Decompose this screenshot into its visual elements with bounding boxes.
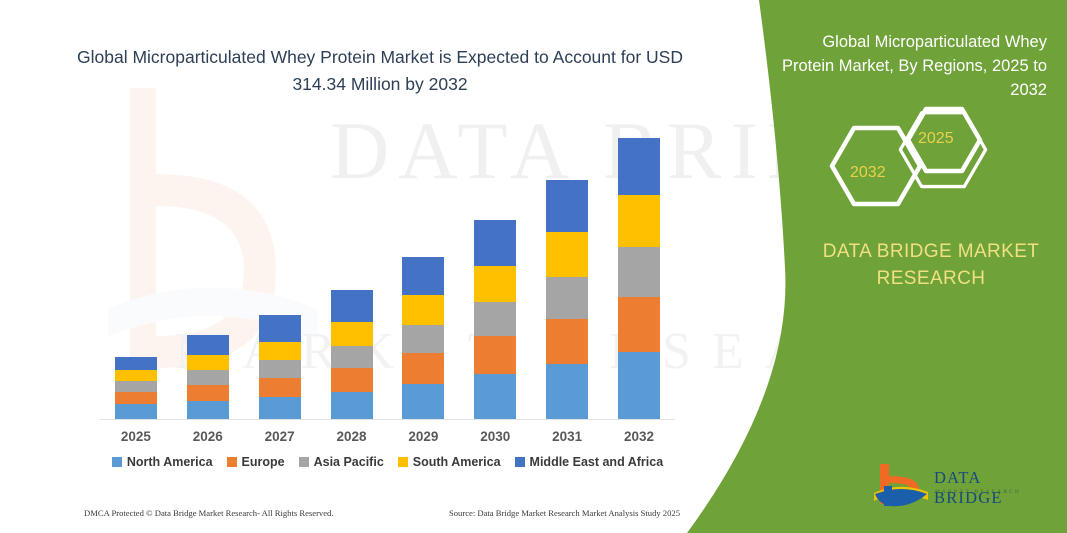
bar-column[interactable] <box>331 290 373 420</box>
bar-segment[interactable] <box>618 297 660 352</box>
bar-segment[interactable] <box>402 353 444 384</box>
hexagon-outlines-icon <box>812 104 992 214</box>
bar-segment[interactable] <box>187 385 229 401</box>
bar-segment[interactable] <box>187 355 229 370</box>
footer-copyright: DMCA Protected © Data Bridge Market Rese… <box>84 508 334 518</box>
legend-item[interactable]: South America <box>398 455 501 469</box>
stacked-bar-chart <box>100 118 675 420</box>
bar-column[interactable] <box>474 220 516 420</box>
bar-segment[interactable] <box>546 364 588 420</box>
x-axis-tick-label: 2027 <box>259 429 301 444</box>
bar-segment[interactable] <box>402 325 444 353</box>
bar-segment[interactable] <box>618 138 660 195</box>
bar-segment[interactable] <box>402 257 444 295</box>
x-axis-tick-label: 2032 <box>618 429 660 444</box>
x-axis-tick-label: 2028 <box>331 429 373 444</box>
x-axis-tick-label: 2029 <box>402 429 444 444</box>
bar-segment[interactable] <box>187 370 229 385</box>
bar-column[interactable] <box>546 180 588 420</box>
bar-column[interactable] <box>402 257 444 420</box>
x-axis-tick-label: 2025 <box>115 429 157 444</box>
bar-segment[interactable] <box>402 295 444 325</box>
legend-swatch-icon <box>112 457 122 467</box>
bar-column[interactable] <box>259 315 301 420</box>
bar-segment[interactable] <box>546 180 588 232</box>
chart-x-axis-labels: 20252026202720282029203020312032 <box>100 424 675 448</box>
bar-segment[interactable] <box>331 322 373 346</box>
bar-column[interactable] <box>618 138 660 420</box>
legend-swatch-icon <box>398 457 408 467</box>
legend-item[interactable]: Europe <box>227 455 285 469</box>
bar-segment[interactable] <box>331 346 373 368</box>
bar-segment[interactable] <box>474 336 516 374</box>
infographic-canvas: DATA BRIDGE MARKET RESEARCH Global Micro… <box>0 0 1067 533</box>
legend-item[interactable]: North America <box>112 455 213 469</box>
data-bridge-b-mark-icon <box>872 460 930 508</box>
legend-label: North America <box>127 455 213 469</box>
logo-subtitle: MARKET RESEARCH <box>935 489 1021 495</box>
bar-segment[interactable] <box>115 357 157 370</box>
legend-item[interactable]: Asia Pacific <box>299 455 384 469</box>
chart-legend: North AmericaEuropeAsia PacificSouth Ame… <box>95 455 680 469</box>
x-axis-tick-label: 2026 <box>187 429 229 444</box>
bar-segment[interactable] <box>474 374 516 420</box>
bar-segment[interactable] <box>546 232 588 277</box>
legend-label: South America <box>413 455 501 469</box>
bar-segment[interactable] <box>474 266 516 302</box>
bar-column[interactable] <box>187 335 229 420</box>
legend-label: Asia Pacific <box>314 455 384 469</box>
bar-segment[interactable] <box>259 378 301 397</box>
legend-label: Europe <box>242 455 285 469</box>
panel-title: Global Microparticulated Whey Protein Ma… <box>779 30 1047 102</box>
bar-column[interactable] <box>115 357 157 420</box>
bar-segment[interactable] <box>259 397 301 420</box>
brand-name-text: DATA BRIDGE MARKET RESEARCH <box>790 238 1067 292</box>
legend-item[interactable]: Middle East and Africa <box>515 455 664 469</box>
chart-plot-area <box>100 120 675 420</box>
bar-segment[interactable] <box>187 401 229 420</box>
bar-segment[interactable] <box>115 404 157 420</box>
footer: DMCA Protected © Data Bridge Market Rese… <box>84 508 684 518</box>
bar-segment[interactable] <box>259 315 301 342</box>
bar-segment[interactable] <box>618 195 660 247</box>
legend-swatch-icon <box>227 457 237 467</box>
bar-segment[interactable] <box>259 342 301 360</box>
bar-segment[interactable] <box>115 381 157 392</box>
bar-segment[interactable] <box>331 392 373 420</box>
footer-source: Source: Data Bridge Market Research Mark… <box>449 508 684 518</box>
bar-segment[interactable] <box>259 360 301 378</box>
x-axis-tick-label: 2031 <box>546 429 588 444</box>
bar-segment[interactable] <box>187 335 229 355</box>
bar-segment[interactable] <box>546 319 588 364</box>
bar-segment[interactable] <box>474 302 516 336</box>
bar-segment[interactable] <box>331 290 373 322</box>
bar-segment[interactable] <box>115 370 157 381</box>
legend-swatch-icon <box>299 457 309 467</box>
chart-x-axis-line <box>100 419 675 420</box>
hexagon-label-start-year: 2032 <box>850 164 886 182</box>
bar-segment[interactable] <box>546 277 588 319</box>
hexagon-group: 2032 2025 <box>812 104 992 214</box>
hexagon-label-end-year: 2025 <box>918 130 954 148</box>
bar-segment[interactable] <box>618 247 660 297</box>
bar-segment[interactable] <box>115 392 157 404</box>
bar-segment[interactable] <box>618 352 660 420</box>
bar-segment[interactable] <box>474 220 516 266</box>
legend-swatch-icon <box>515 457 525 467</box>
x-axis-tick-label: 2030 <box>474 429 516 444</box>
chart-title: Global Microparticulated Whey Protein Ma… <box>70 44 690 98</box>
bar-segment[interactable] <box>331 368 373 392</box>
bar-segment[interactable] <box>402 384 444 420</box>
legend-label: Middle East and Africa <box>530 455 664 469</box>
data-bridge-logo: DATA BRIDGE MARKET RESEARCH <box>872 460 1052 508</box>
logo-wordmark: DATA BRIDGE <box>934 468 1052 508</box>
